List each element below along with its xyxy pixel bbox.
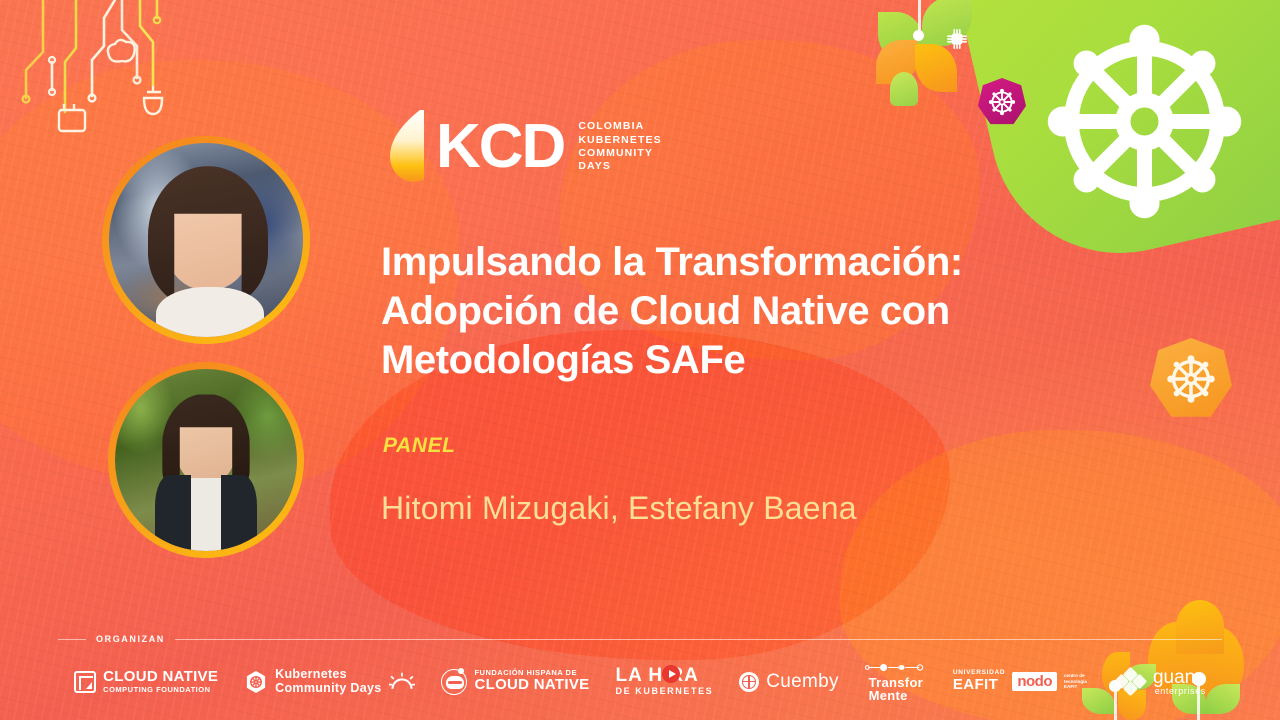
logo-line1: Kubernetes xyxy=(275,668,381,681)
logo-kubernetes-community-days: Kubernetes Community Days xyxy=(244,668,415,694)
divider-line xyxy=(175,639,1222,640)
kubernetes-helm-icon xyxy=(244,670,268,694)
avatar xyxy=(102,136,310,344)
logo-line1: guane xyxy=(1153,668,1206,687)
leaf-shape xyxy=(890,72,918,106)
kcd-letters: KCD xyxy=(436,116,564,178)
nodo-badge: nodo xyxy=(1012,672,1057,691)
sponsor-footer: ORGANIZAN CLOUD NATIVE COMPUTING FOUNDAT… xyxy=(0,633,1280,702)
logo-guane-enterprises: guane enterprises xyxy=(1116,668,1206,696)
logo-line1: Cuemby xyxy=(766,671,839,693)
circuit-board-traces xyxy=(0,0,210,140)
kcd-subtitle: COLOMBIA KUBERNETES COMMUNITY DAYS xyxy=(578,120,661,174)
logo-line1: CLOUD NATIVE xyxy=(103,669,218,685)
logo-line2: DE KUBERNETES xyxy=(615,687,713,697)
logo-line2: CLOUD NATIVE xyxy=(474,677,589,694)
speaker-photo-1 xyxy=(109,143,303,337)
sponsor-logo-row: CLOUD NATIVE COMPUTING FOUNDATION Kubern… xyxy=(0,661,1280,702)
node-network-icon xyxy=(865,661,927,674)
logo-line2: Mente xyxy=(869,689,923,702)
speech-bubble-icon xyxy=(441,669,467,695)
kubernetes-badge-magenta xyxy=(978,78,1026,126)
speaker-photo-2 xyxy=(115,369,297,551)
nodo-note: centro de tecnología EAFIT xyxy=(1064,673,1090,690)
divider-line xyxy=(58,639,86,640)
logo-eafit-nodo: UNIVERSIDAD EAFIT nodo centro de tecnolo… xyxy=(953,670,1090,693)
logo-fundacion-hispana: FUNDACIÓN HISPANA DE CLOUD NATIVE xyxy=(441,669,589,695)
kubernetes-helm-icon xyxy=(986,86,1018,118)
kcd-subtitle-line: COMMUNITY xyxy=(578,147,661,160)
session-title-line: Metodologías SAFe xyxy=(381,336,1141,385)
logo-la-hora-de-kubernetes: LA H RA DE KUBERNETES xyxy=(615,666,713,696)
logo-line2: EAFIT xyxy=(953,677,1005,693)
session-title-line: Adopción de Cloud Native con xyxy=(381,287,1141,336)
kubernetes-helm-icon xyxy=(1162,350,1220,408)
sunburst-icon xyxy=(389,672,415,692)
presentation-slide: KCD COLOMBIA KUBERNETES COMMUNITY DAYS I… xyxy=(0,0,1280,720)
session-title-line: Impulsando la Transformación: xyxy=(381,238,1141,287)
kcd-subtitle-line: KUBERNETES xyxy=(578,134,661,147)
diamond-pattern-icon xyxy=(1116,669,1146,695)
logo-line2: COMPUTING FOUNDATION xyxy=(103,686,218,694)
organizers-label: ORGANIZAN xyxy=(96,634,165,644)
logo-cncf: CLOUD NATIVE COMPUTING FOUNDATION xyxy=(74,669,218,693)
logo-transformente: Transfor Mente xyxy=(865,661,927,702)
avatar xyxy=(108,362,304,558)
chip-icon xyxy=(946,28,968,50)
logo-cuemby: Cuemby xyxy=(739,671,839,693)
kubernetes-helm-icon-large xyxy=(1037,14,1252,229)
logo-line2: enterprises xyxy=(1153,687,1206,696)
node-dot xyxy=(913,30,924,41)
kubernetes-badge-orange xyxy=(1150,338,1232,420)
session-title: Impulsando la Transformación: Adopción d… xyxy=(381,238,1141,384)
session-type-label: PANEL xyxy=(383,434,456,458)
organizers-divider: ORGANIZAN xyxy=(58,633,1222,645)
kcd-subtitle-line: COLOMBIA xyxy=(578,120,661,133)
kcd-subtitle-line: DAYS xyxy=(578,160,661,173)
logo-line2: Community Days xyxy=(275,682,381,695)
stem-line xyxy=(918,0,921,34)
speaker-names: Hitomi Mizugaki, Estefany Baena xyxy=(381,490,857,527)
kcd-logo: KCD COLOMBIA KUBERNETES COMMUNITY DAYS xyxy=(380,108,662,186)
cncf-square-icon xyxy=(74,671,96,693)
globe-icon xyxy=(739,672,759,692)
